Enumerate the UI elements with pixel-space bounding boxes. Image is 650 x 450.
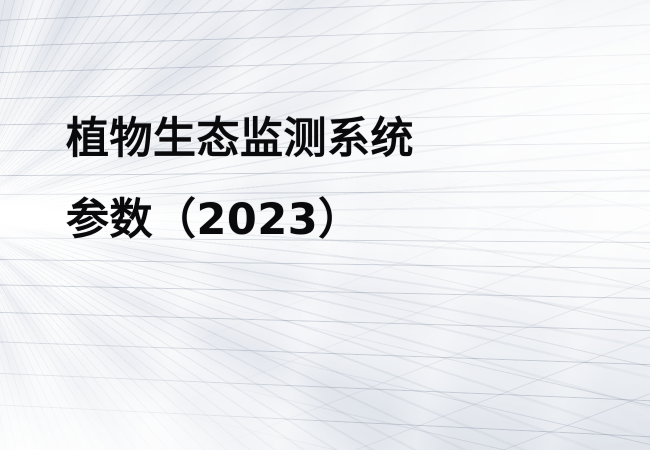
slide-title-line-1: 植物生态监测系统 [66,118,606,161]
background-arc-line-14 [0,363,650,411]
background-arc-line-15 [0,393,650,449]
background-arc-line-10 [0,254,650,271]
background-arc-line-4 [0,77,650,104]
background-arc-line-3 [0,47,650,80]
background-arc-line-13 [0,333,650,374]
slide-title-line-2: 参数（2023） [66,199,606,242]
background-arc-line-12 [0,305,650,338]
background-arc-line-1 [0,0,650,29]
background-arc-line-2 [0,16,650,55]
background-arc-line-11 [0,278,650,303]
presentation-slide: 植物生态监测系统 参数（2023） [0,0,650,450]
slide-title-block: 植物生态监测系统 参数（2023） [66,118,606,242]
